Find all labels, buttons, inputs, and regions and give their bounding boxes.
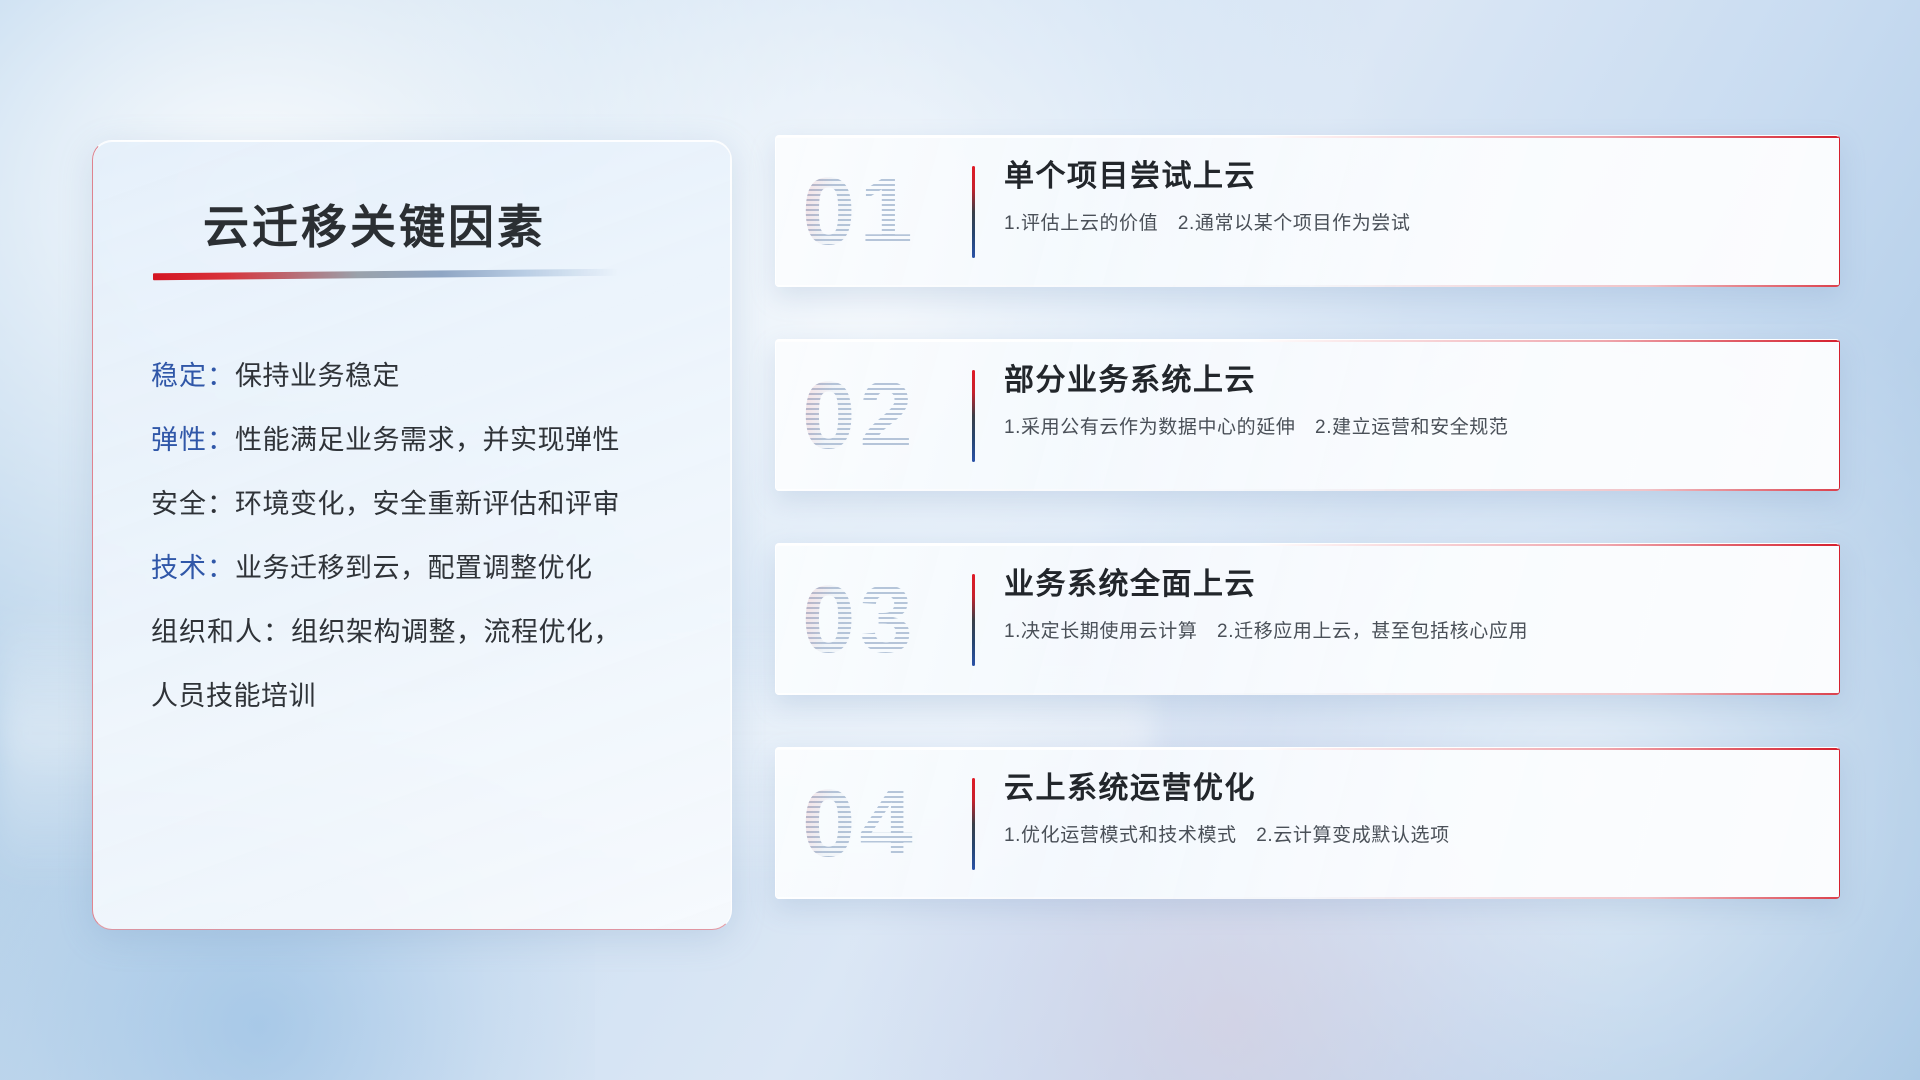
factor-text: 保持业务稳定: [235, 361, 400, 391]
factor-label: 稳定：: [151, 361, 235, 391]
step-card-04[interactable]: 04 04 云上系统运营优化 1.优化运营模式和技术模式 2.云计算变成默认选项: [775, 747, 1840, 899]
step-number-watermark: 03: [802, 572, 917, 668]
step-number-watermark: 02: [802, 368, 917, 464]
step-title: 部分业务系统上云: [1004, 362, 1811, 400]
key-factors-panel: 云迁移关键因素 稳定：保持业务稳定 弹性：性能满足业务需求，并实现弹性 安全：环…: [92, 140, 732, 930]
step-number-shade: 02: [802, 368, 917, 464]
factor-label: 技术：: [151, 553, 235, 583]
list-item: 组织和人：组织架构调整，流程优化，: [151, 619, 701, 646]
step-subtitle: 1.优化运营模式和技术模式 2.云计算变成默认选项: [1004, 820, 1811, 847]
list-item: 安全：环境变化，安全重新评估和评审: [151, 491, 701, 518]
title-underline-gradient: [153, 269, 618, 280]
step-title: 单个项目尝试上云: [1004, 158, 1811, 196]
step-card-02[interactable]: 02 02 部分业务系统上云 1.采用公有云作为数据中心的延伸 2.建立运营和安…: [775, 339, 1840, 491]
step-card-03[interactable]: 03 03 业务系统全面上云 1.决定长期使用云计算 2.迁移应用上云，甚至包括…: [775, 543, 1840, 695]
factor-label: 组织和人：: [151, 617, 291, 647]
step-title: 云上系统运营优化: [1004, 770, 1811, 808]
slide-stage: 云迁移关键因素 稳定：保持业务稳定 弹性：性能满足业务需求，并实现弹性 安全：环…: [0, 0, 1920, 1080]
step-content: 单个项目尝试上云 1.评估上云的价值 2.通常以某个项目作为尝试: [1004, 158, 1811, 235]
list-item: 技术：业务迁移到云，配置调整优化: [151, 555, 701, 582]
step-number-shade: 01: [802, 164, 917, 260]
factor-text: 性能满足业务需求，并实现弹性: [235, 425, 620, 455]
step-card-01[interactable]: 01 01 单个项目尝试上云 1.评估上云的价值 2.通常以某个项目作为尝试: [775, 135, 1840, 287]
step-divider-bar: [972, 166, 975, 258]
step-number-watermark: 04: [802, 776, 917, 872]
step-subtitle: 1.采用公有云作为数据中心的延伸 2.建立运营和安全规范: [1004, 412, 1811, 439]
factor-text: 组织架构调整，流程优化，: [291, 617, 621, 647]
factor-text: 环境变化，安全重新评估和评审: [235, 489, 620, 519]
list-item: 人员技能培训: [151, 683, 701, 710]
factor-label: 弹性：: [151, 425, 235, 455]
step-number-shade: 04: [802, 776, 917, 872]
key-factors-list: 稳定：保持业务稳定 弹性：性能满足业务需求，并实现弹性 安全：环境变化，安全重新…: [151, 363, 701, 710]
step-subtitle: 1.评估上云的价值 2.通常以某个项目作为尝试: [1004, 208, 1811, 235]
factor-text: 人员技能培训: [151, 681, 316, 711]
step-number-watermark: 01: [802, 164, 917, 260]
step-content: 云上系统运营优化 1.优化运营模式和技术模式 2.云计算变成默认选项: [1004, 770, 1811, 847]
step-divider-bar: [972, 574, 975, 666]
step-divider-bar: [972, 370, 975, 462]
list-item: 弹性：性能满足业务需求，并实现弹性: [151, 427, 701, 454]
step-divider-bar: [972, 778, 975, 870]
factor-label: 安全：: [151, 489, 235, 519]
factor-text: 业务迁移到云，配置调整优化: [235, 553, 593, 583]
step-number-shade: 03: [802, 572, 917, 668]
step-title: 业务系统全面上云: [1004, 566, 1811, 604]
step-content: 业务系统全面上云 1.决定长期使用云计算 2.迁移应用上云，甚至包括核心应用: [1004, 566, 1811, 643]
step-subtitle: 1.决定长期使用云计算 2.迁移应用上云，甚至包括核心应用: [1004, 616, 1811, 643]
step-content: 部分业务系统上云 1.采用公有云作为数据中心的延伸 2.建立运营和安全规范: [1004, 362, 1811, 439]
page-title: 云迁移关键因素: [203, 191, 546, 257]
list-item: 稳定：保持业务稳定: [151, 363, 701, 390]
migration-steps-list: 01 01 单个项目尝试上云 1.评估上云的价值 2.通常以某个项目作为尝试 0…: [775, 135, 1840, 899]
